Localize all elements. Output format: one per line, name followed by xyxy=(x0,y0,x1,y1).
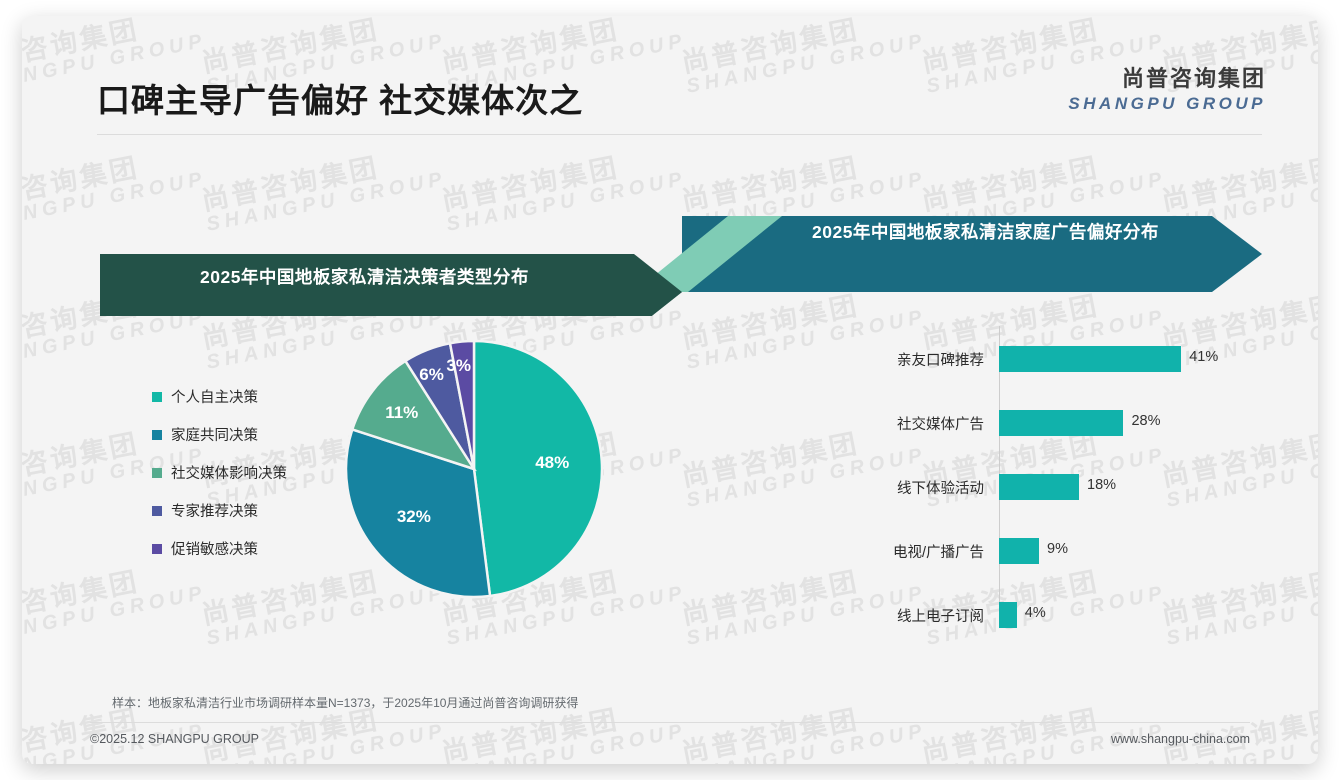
bar-category-label: 社交媒体广告 xyxy=(897,413,984,434)
sample-footnote: 样本：地板家私清洁行业市场调研样本量N=1373，于2025年10月通过尚普咨询… xyxy=(112,694,578,711)
legend-item-label: 个人自主决策 xyxy=(171,386,258,407)
bar-value-label: 4% xyxy=(1025,605,1046,621)
footer-website: www.shangpu-china.com xyxy=(1111,732,1250,746)
bar-category-label: 电视/广播广告 xyxy=(893,541,984,562)
bar-category-label: 线上电子订阅 xyxy=(897,605,984,626)
pie-legend: 个人自主决策家庭共同决策社交媒体影响决策专家推荐决策促销敏感决策 xyxy=(152,386,287,576)
legend-item[interactable]: 社交媒体影响决策 xyxy=(152,462,287,483)
legend-swatch-icon xyxy=(152,430,162,440)
footer-divider xyxy=(90,722,1250,723)
legend-item[interactable]: 专家推荐决策 xyxy=(152,500,287,521)
legend-item-label: 专家推荐决策 xyxy=(171,500,258,521)
company-logo: 尚普咨询集团 SHANGPU GROUP xyxy=(1068,61,1266,114)
bar-chart-row[interactable]: 线下体验活动18% xyxy=(852,474,1272,500)
bar-rect[interactable] xyxy=(999,538,1039,564)
legend-swatch-icon xyxy=(152,468,162,478)
pie-slice-label: 32% xyxy=(397,507,431,527)
pie-slice-label: 11% xyxy=(385,403,418,423)
legend-item[interactable]: 家庭共同决策 xyxy=(152,424,287,445)
slide-header: 口碑主导广告偏好 社交媒体次之 尚普咨询集团 SHANGPU GROUP xyxy=(22,16,1318,134)
page-title: 口碑主导广告偏好 社交媒体次之 xyxy=(97,74,583,122)
bar-category-label: 亲友口碑推荐 xyxy=(897,349,984,370)
pie-slice-label: 48% xyxy=(535,453,569,473)
pie-slice-label: 6% xyxy=(419,365,444,385)
slide-canvas: 尚普咨询集团SHANGPU GROUP尚普咨询集团SHANGPU GROUP尚普… xyxy=(22,16,1318,764)
banner-right-label: 2025年中国地板家私清洁家庭广告偏好分布 xyxy=(812,219,1159,244)
bar-chart-row[interactable]: 电视/广播广告9% xyxy=(852,538,1272,564)
bar-value-label: 41% xyxy=(1189,349,1218,365)
bar-chart-panel: 亲友口碑推荐41%社交媒体广告28%线下体验活动18%电视/广播广告9%线上电子… xyxy=(852,316,1272,646)
footer-copyright: ©2025.12 SHANGPU GROUP xyxy=(90,732,259,746)
bar-category-label: 线下体验活动 xyxy=(897,477,984,498)
watermark-text: 尚普咨询集团SHANGPU GROUP xyxy=(920,693,1169,764)
legend-item-label: 促销敏感决策 xyxy=(171,538,258,559)
bar-rect[interactable] xyxy=(999,602,1017,628)
bar-value-label: 18% xyxy=(1087,477,1116,493)
bar-chart-row[interactable]: 社交媒体广告28% xyxy=(852,410,1272,436)
logo-en-text: SHANGPU GROUP xyxy=(1068,94,1266,114)
pie-slice-label: 3% xyxy=(446,356,471,376)
bar-rect[interactable] xyxy=(999,346,1181,372)
legend-item-label: 家庭共同决策 xyxy=(171,424,258,445)
pie-chart-panel: 个人自主决策家庭共同决策社交媒体影响决策专家推荐决策促销敏感决策 48%32%1… xyxy=(122,316,742,646)
legend-item[interactable]: 个人自主决策 xyxy=(152,386,287,407)
bar-rect[interactable] xyxy=(999,410,1123,436)
bar-chart-row[interactable]: 线上电子订阅4% xyxy=(852,602,1272,628)
legend-swatch-icon xyxy=(152,506,162,516)
logo-cn-text: 尚普咨询集团 xyxy=(1068,61,1266,93)
bar-value-label: 9% xyxy=(1047,541,1068,557)
banner-left-label: 2025年中国地板家私清洁决策者类型分布 xyxy=(200,264,529,289)
legend-item-label: 社交媒体影响决策 xyxy=(171,462,287,483)
watermark-text: 尚普咨询集团SHANGPU GROUP xyxy=(680,693,929,764)
legend-swatch-icon xyxy=(152,392,162,402)
legend-item[interactable]: 促销敏感决策 xyxy=(152,538,287,559)
legend-swatch-icon xyxy=(152,544,162,554)
watermark-text: 尚普咨询集团SHANGPU GROUP xyxy=(1160,693,1318,764)
bar-chart-row[interactable]: 亲友口碑推荐41% xyxy=(852,346,1272,372)
bar-rect[interactable] xyxy=(999,474,1079,500)
bar-value-label: 28% xyxy=(1131,413,1160,429)
